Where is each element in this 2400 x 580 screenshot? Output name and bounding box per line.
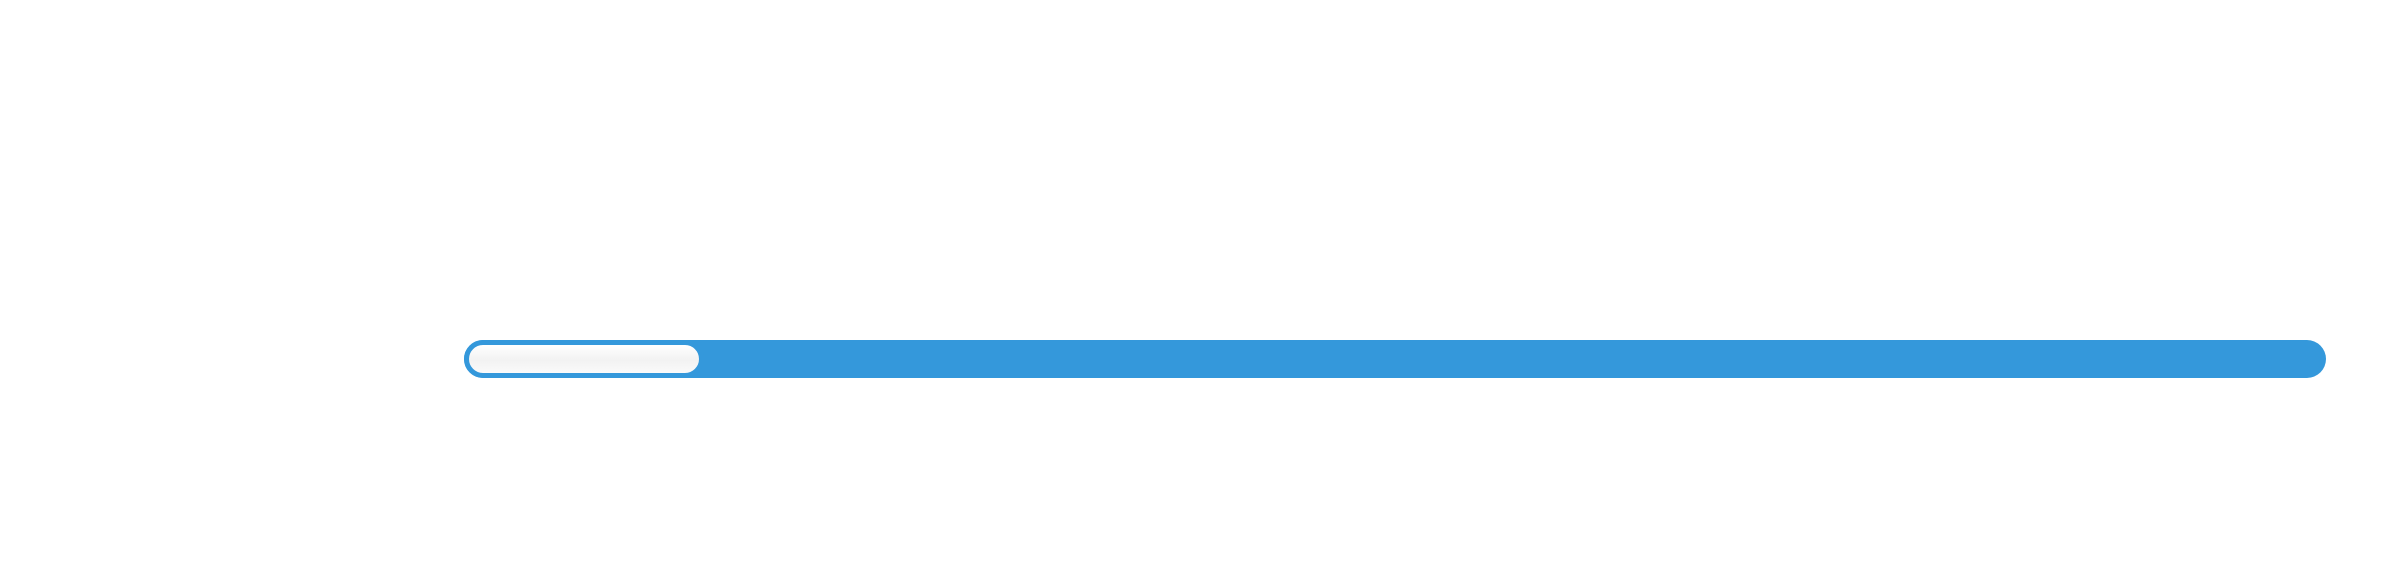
phylostratum-bar-unfilled: [464, 340, 704, 378]
phylostratigraphy-chart: [0, 0, 2400, 580]
phylostratum-bar-track[interactable]: [464, 340, 2326, 378]
